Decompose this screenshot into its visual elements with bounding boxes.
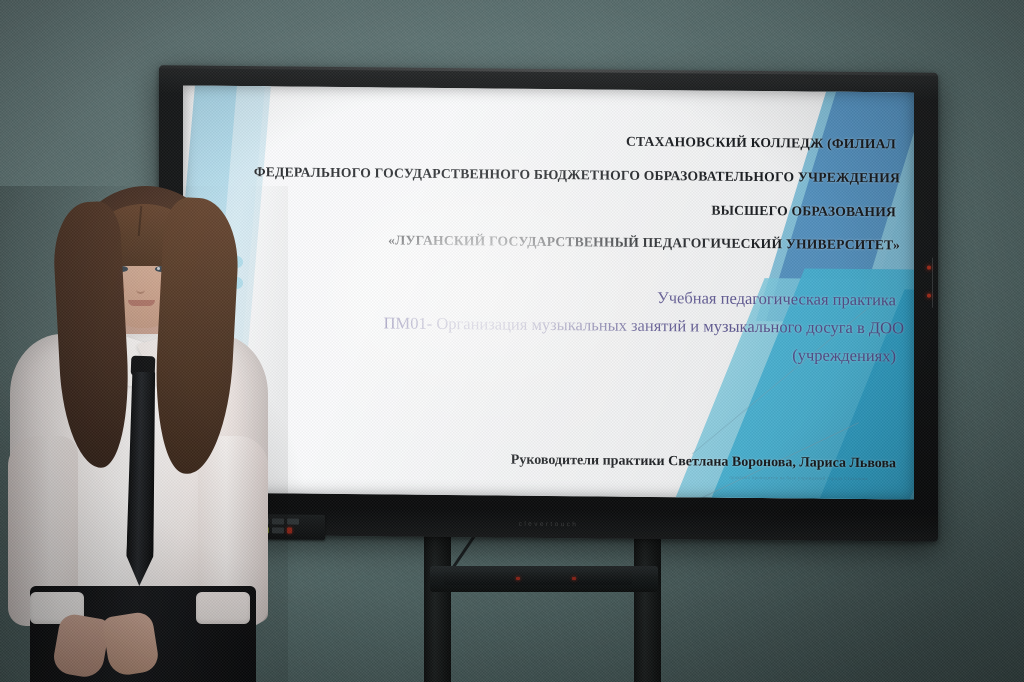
photo-scene: СТАХАНОВСКИЙ КОЛЛЕДЖ (ФИЛИАЛ ФЕДЕРАЛЬНОГ… [0,0,1024,682]
wall-vignette [0,0,1024,682]
